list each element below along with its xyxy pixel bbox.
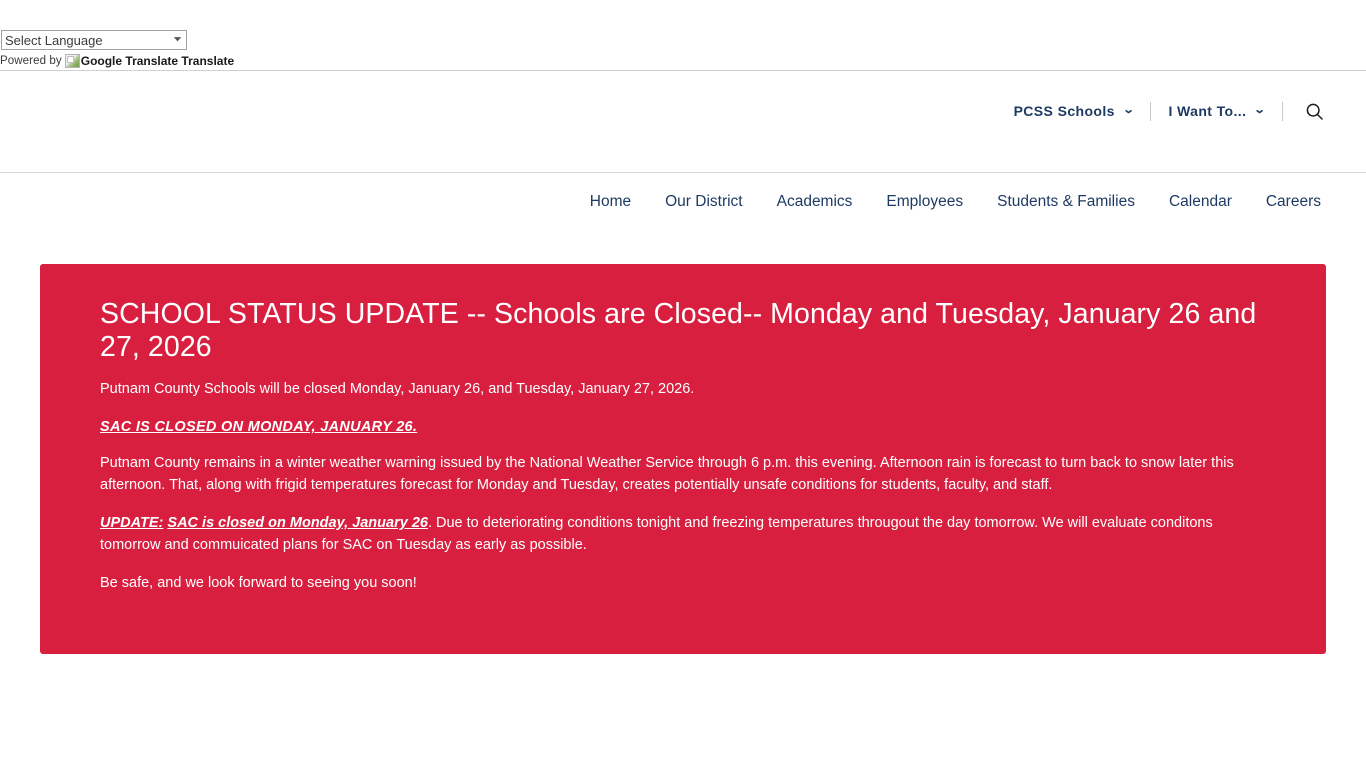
utility-nav: PCSS Schools ⌄ I Want To... ⌄ [1014, 101, 1326, 121]
language-select[interactable]: Select Language ▾ [1, 30, 187, 50]
google-translate-logo-broken-image-icon [65, 54, 80, 68]
language-select-value: Select Language [5, 33, 103, 48]
alert-paragraph-2: Putnam County remains in a winter weathe… [100, 452, 1266, 496]
nav-link-our-district[interactable]: Our District [648, 191, 760, 213]
chevron-down-icon: ⌄ [1254, 105, 1267, 116]
nav-link-students-and-families[interactable]: Students & Families [980, 191, 1152, 213]
nav-dropdown-pcss-schools[interactable]: PCSS Schools ⌄ [1014, 103, 1134, 119]
powered-by-label: Powered by [0, 55, 62, 67]
chevron-down-icon: ⌄ [1122, 105, 1135, 116]
nav-link-employees[interactable]: Employees [869, 191, 980, 213]
alert-paragraph-3: UPDATE: SAC is closed on Monday, January… [100, 512, 1266, 556]
nav-link-academics[interactable]: Academics [760, 191, 870, 213]
main-nav: Home Our District Academics Employees St… [573, 191, 1338, 213]
alert-sac-closed-emphasis: SAC is closed on Monday, January 26 [167, 515, 428, 531]
nav-link-home[interactable]: Home [573, 191, 648, 213]
nav-dropdown-pcss-schools-label: PCSS Schools [1014, 103, 1115, 119]
nav-divider [1150, 102, 1151, 121]
site-header: PCSS Schools ⌄ I Want To... ⌄ Home Our D… [0, 71, 1366, 173]
alert-update-label: UPDATE: [100, 515, 163, 531]
powered-by-row: Powered by Google Translate Translate [0, 53, 234, 69]
chevron-down-icon: ▾ [174, 36, 182, 45]
alert-paragraph-1: Putnam County Schools will be closed Mon… [100, 378, 1266, 400]
google-translate-bar: Select Language ▾ Powered by Google Tran… [0, 0, 1366, 71]
alert-paragraph-4: Be safe, and we look forward to seeing y… [100, 572, 1266, 594]
alert-emphasis-heading: SAC IS CLOSED ON MONDAY, JANUARY 26. [100, 416, 1266, 438]
google-translate-link[interactable]: Google Translate Translate [81, 54, 234, 68]
search-icon[interactable] [1302, 99, 1326, 123]
nav-link-careers[interactable]: Careers [1249, 191, 1338, 213]
nav-dropdown-i-want-to[interactable]: I Want To... ⌄ [1168, 103, 1265, 119]
school-status-alert-banner: SCHOOL STATUS UPDATE -- Schools are Clos… [40, 264, 1326, 654]
nav-dropdown-i-want-to-label: I Want To... [1168, 103, 1246, 119]
primary-navigation: PCSS Schools ⌄ I Want To... ⌄ Home Our D… [508, 71, 1338, 173]
nav-divider [1282, 102, 1283, 121]
alert-title: SCHOOL STATUS UPDATE -- Schools are Clos… [100, 298, 1260, 364]
nav-link-calendar[interactable]: Calendar [1152, 191, 1249, 213]
